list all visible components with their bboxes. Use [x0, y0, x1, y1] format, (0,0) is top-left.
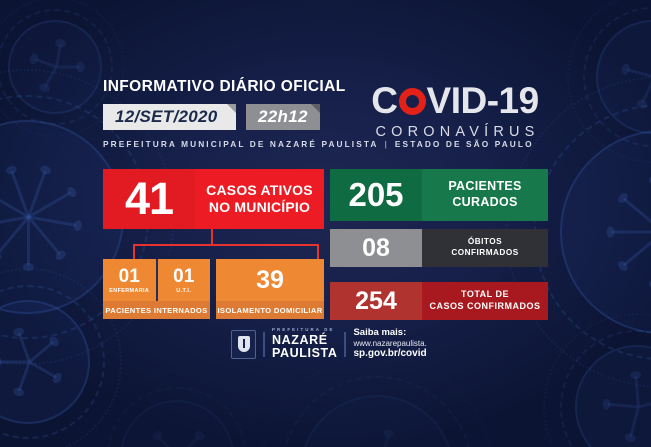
internados-cell-enfermaria: 01 ENFERMARIA	[103, 259, 156, 301]
total-label-line2: CASOS CONFIRMADOS	[429, 301, 540, 313]
curados-label: PACIENTES CURADOS	[422, 169, 548, 221]
curados-label-line1: PACIENTES	[448, 179, 521, 195]
total-label-line1: TOTAL DE	[461, 289, 509, 301]
virus-icon	[0, 300, 90, 424]
stat-card-isolamento-domiciliar: 39 ISOLAMENTO DOMICILIAR	[216, 259, 324, 319]
stat-card-casos-ativos: 41 CASOS ATIVOS NO MUNICÍPIO	[103, 169, 324, 229]
covid-subtitle: CORONAVÍRUS	[355, 124, 555, 140]
uti-caption: U.T.I.	[176, 288, 191, 294]
shield-icon	[238, 336, 250, 352]
internados-cells: 01 ENFERMARIA 01 U.T.I.	[103, 259, 210, 301]
casos-ativos-label-line2: NO MUNICÍPIO	[209, 199, 310, 216]
stat-card-pacientes-internados: 01 ENFERMARIA 01 U.T.I. PACIENTES INTERN…	[103, 259, 210, 319]
more-info-title: Saiba mais:	[353, 328, 426, 339]
footer-divider-2	[344, 332, 346, 357]
page-title: INFORMATIVO DIÁRIO OFICIAL	[103, 78, 353, 96]
stat-card-pacientes-curados: 205 PACIENTES CURADOS	[330, 169, 548, 221]
breadcrumb-separator: |	[379, 139, 395, 149]
city-logo-line2: PAULISTA	[272, 347, 337, 360]
enfermaria-value: 01	[119, 267, 140, 286]
city-logo-text: PREFEITURA DE NAZARÉ PAULISTA	[272, 328, 337, 361]
poster-footer: PREFEITURA DE NAZARÉ PAULISTA Saiba mais…	[231, 329, 427, 359]
date-chip: 12/SET/2020	[103, 104, 236, 130]
casos-ativos-label: CASOS ATIVOS NO MUNICÍPIO	[195, 169, 324, 229]
time-chip: 22h12	[246, 104, 320, 130]
breadcrumb: PREFEITURA MUNICIPAL DE NAZARÉ PAULISTA|…	[103, 139, 353, 149]
covid-wordmark: C VID-19	[355, 82, 555, 119]
state-label: ESTADO DE SÃO PAULO	[395, 139, 534, 149]
casos-ativos-label-line1: CASOS ATIVOS	[206, 182, 313, 199]
obitos-value: 08	[330, 229, 422, 267]
virus-icon	[560, 130, 651, 334]
casos-ativos-value: 41	[103, 169, 195, 229]
breakdown-connector	[103, 229, 324, 259]
more-info-url-line2[interactable]: sp.gov.br/covid	[353, 348, 426, 360]
virus-icon	[596, 20, 651, 134]
more-info-block[interactable]: Saiba mais: www.nazarepaulista. sp.gov.b…	[353, 328, 426, 360]
virus-icon	[8, 20, 102, 114]
connector-bar	[133, 244, 319, 246]
date-chip-label: 12/SET/2020	[115, 107, 218, 127]
total-value: 254	[330, 282, 422, 320]
background-virus-pattern	[0, 0, 651, 447]
covid-brand-lockup: C VID-19 CORONAVÍRUS	[355, 82, 555, 140]
internados-footer-label: PACIENTES INTERNADOS	[103, 301, 210, 319]
internados-cell-uti: 01 U.T.I.	[156, 259, 211, 301]
municipality-label: PREFEITURA MUNICIPAL DE NAZARÉ PAULISTA	[103, 139, 379, 149]
stat-card-obitos-confirmados: 08 ÓBITOS CONFIRMADOS	[330, 229, 548, 267]
obitos-label: ÓBITOS CONFIRMADOS	[422, 229, 548, 267]
header-left-block: INFORMATIVO DIÁRIO OFICIAL 12/SET/2020 2…	[103, 78, 353, 149]
virus-icon	[120, 400, 234, 447]
city-coat-of-arms-icon	[231, 330, 256, 359]
red-ring-o-icon	[399, 88, 426, 115]
stat-card-total-casos-confirmados: 254 TOTAL DE CASOS CONFIRMADOS	[330, 282, 548, 320]
virus-icon	[575, 345, 651, 447]
covid-wordmark-part2: VID-19	[427, 82, 539, 119]
virus-icon	[300, 395, 454, 447]
more-info-url-line1[interactable]: www.nazarepaulista.	[353, 339, 426, 348]
enfermaria-caption: ENFERMARIA	[109, 288, 149, 294]
connector-stem	[211, 229, 213, 245]
covid-daily-report-poster: INFORMATIVO DIÁRIO OFICIAL 12/SET/2020 2…	[0, 0, 651, 447]
isolamento-footer-label: ISOLAMENTO DOMICILIAR	[216, 301, 324, 319]
date-time-chips: 12/SET/2020 22h12	[103, 104, 353, 130]
footer-divider-1	[263, 332, 265, 357]
time-chip-label: 22h12	[258, 107, 308, 127]
connector-drop-right	[317, 244, 319, 259]
curados-label-line2: CURADOS	[452, 195, 517, 211]
uti-value: 01	[173, 267, 194, 286]
city-logo-kicker: PREFEITURA DE	[272, 328, 337, 332]
obitos-label-line1: ÓBITOS	[468, 237, 502, 248]
obitos-label-line2: CONFIRMADOS	[451, 248, 518, 259]
covid-wordmark-part1: C	[371, 82, 397, 119]
curados-value: 205	[330, 169, 422, 221]
isolamento-value: 39	[216, 259, 324, 301]
connector-drop-left	[133, 244, 135, 259]
total-label: TOTAL DE CASOS CONFIRMADOS	[422, 282, 548, 320]
